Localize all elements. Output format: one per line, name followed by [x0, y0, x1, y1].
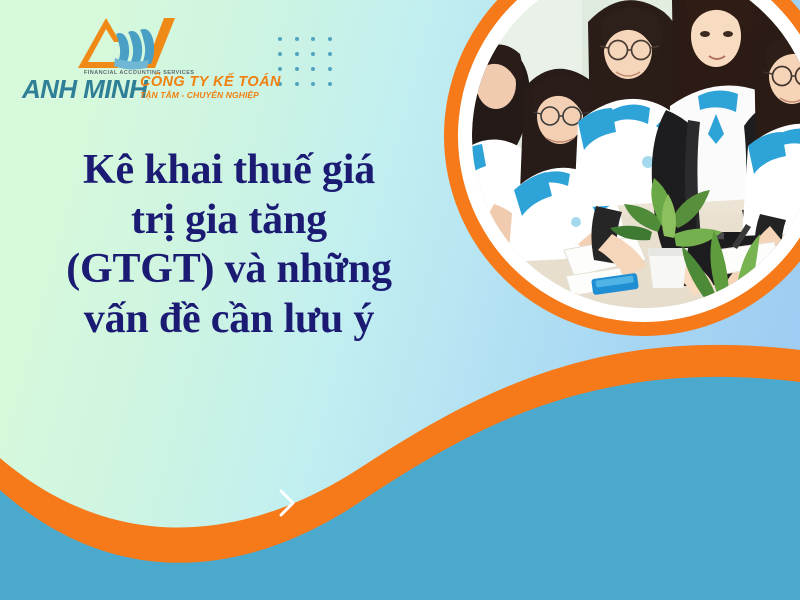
grid-dot: [278, 37, 282, 41]
banner-root: FINANCIAL ACCOUNTING SERVICES ANH MINH C…: [0, 0, 800, 600]
headline-line-1: Kê khai thuế giá: [24, 146, 434, 196]
grid-dot: [328, 37, 332, 41]
grid-dot: [328, 82, 332, 86]
grid-dot: [295, 52, 299, 56]
grid-dot: [311, 82, 315, 86]
dot-grid-decoration: [272, 31, 338, 91]
headline-title: Kê khai thuế giá trị gia tăng (GTGT) và …: [24, 146, 434, 344]
anh-minh-mark-icon: [76, 12, 188, 70]
headline-line-2: trị gia tăng: [24, 196, 434, 246]
logo-text-block: CÔNG TY KẾ TOÁN TẬN TÂM - CHUYÊN NGHIỆP: [140, 75, 281, 100]
grid-dot: [295, 82, 299, 86]
logo-company-type: CÔNG TY KẾ TOÁN: [140, 75, 281, 90]
grid-dot: [328, 52, 332, 56]
grid-dot: [311, 52, 315, 56]
grid-dot: [295, 37, 299, 41]
chevron-right-icon[interactable]: [274, 486, 300, 520]
grid-dot: [278, 52, 282, 56]
grid-dot: [278, 67, 282, 71]
headline-line-3: (GTGT) và những: [24, 245, 434, 295]
company-logo[interactable]: FINANCIAL ACCOUNTING SERVICES ANH MINH C…: [22, 12, 238, 112]
grid-dot: [295, 67, 299, 71]
grid-dot: [328, 67, 332, 71]
headline-line-4: vấn đề cần lưu ý: [24, 295, 434, 345]
grid-dot: [311, 67, 315, 71]
grid-dot: [311, 37, 315, 41]
photo-circle: [444, 0, 800, 336]
logo-slogan: TẬN TÂM - CHUYÊN NGHIỆP: [140, 90, 281, 100]
logo-company-name: ANH MINH: [22, 76, 147, 102]
